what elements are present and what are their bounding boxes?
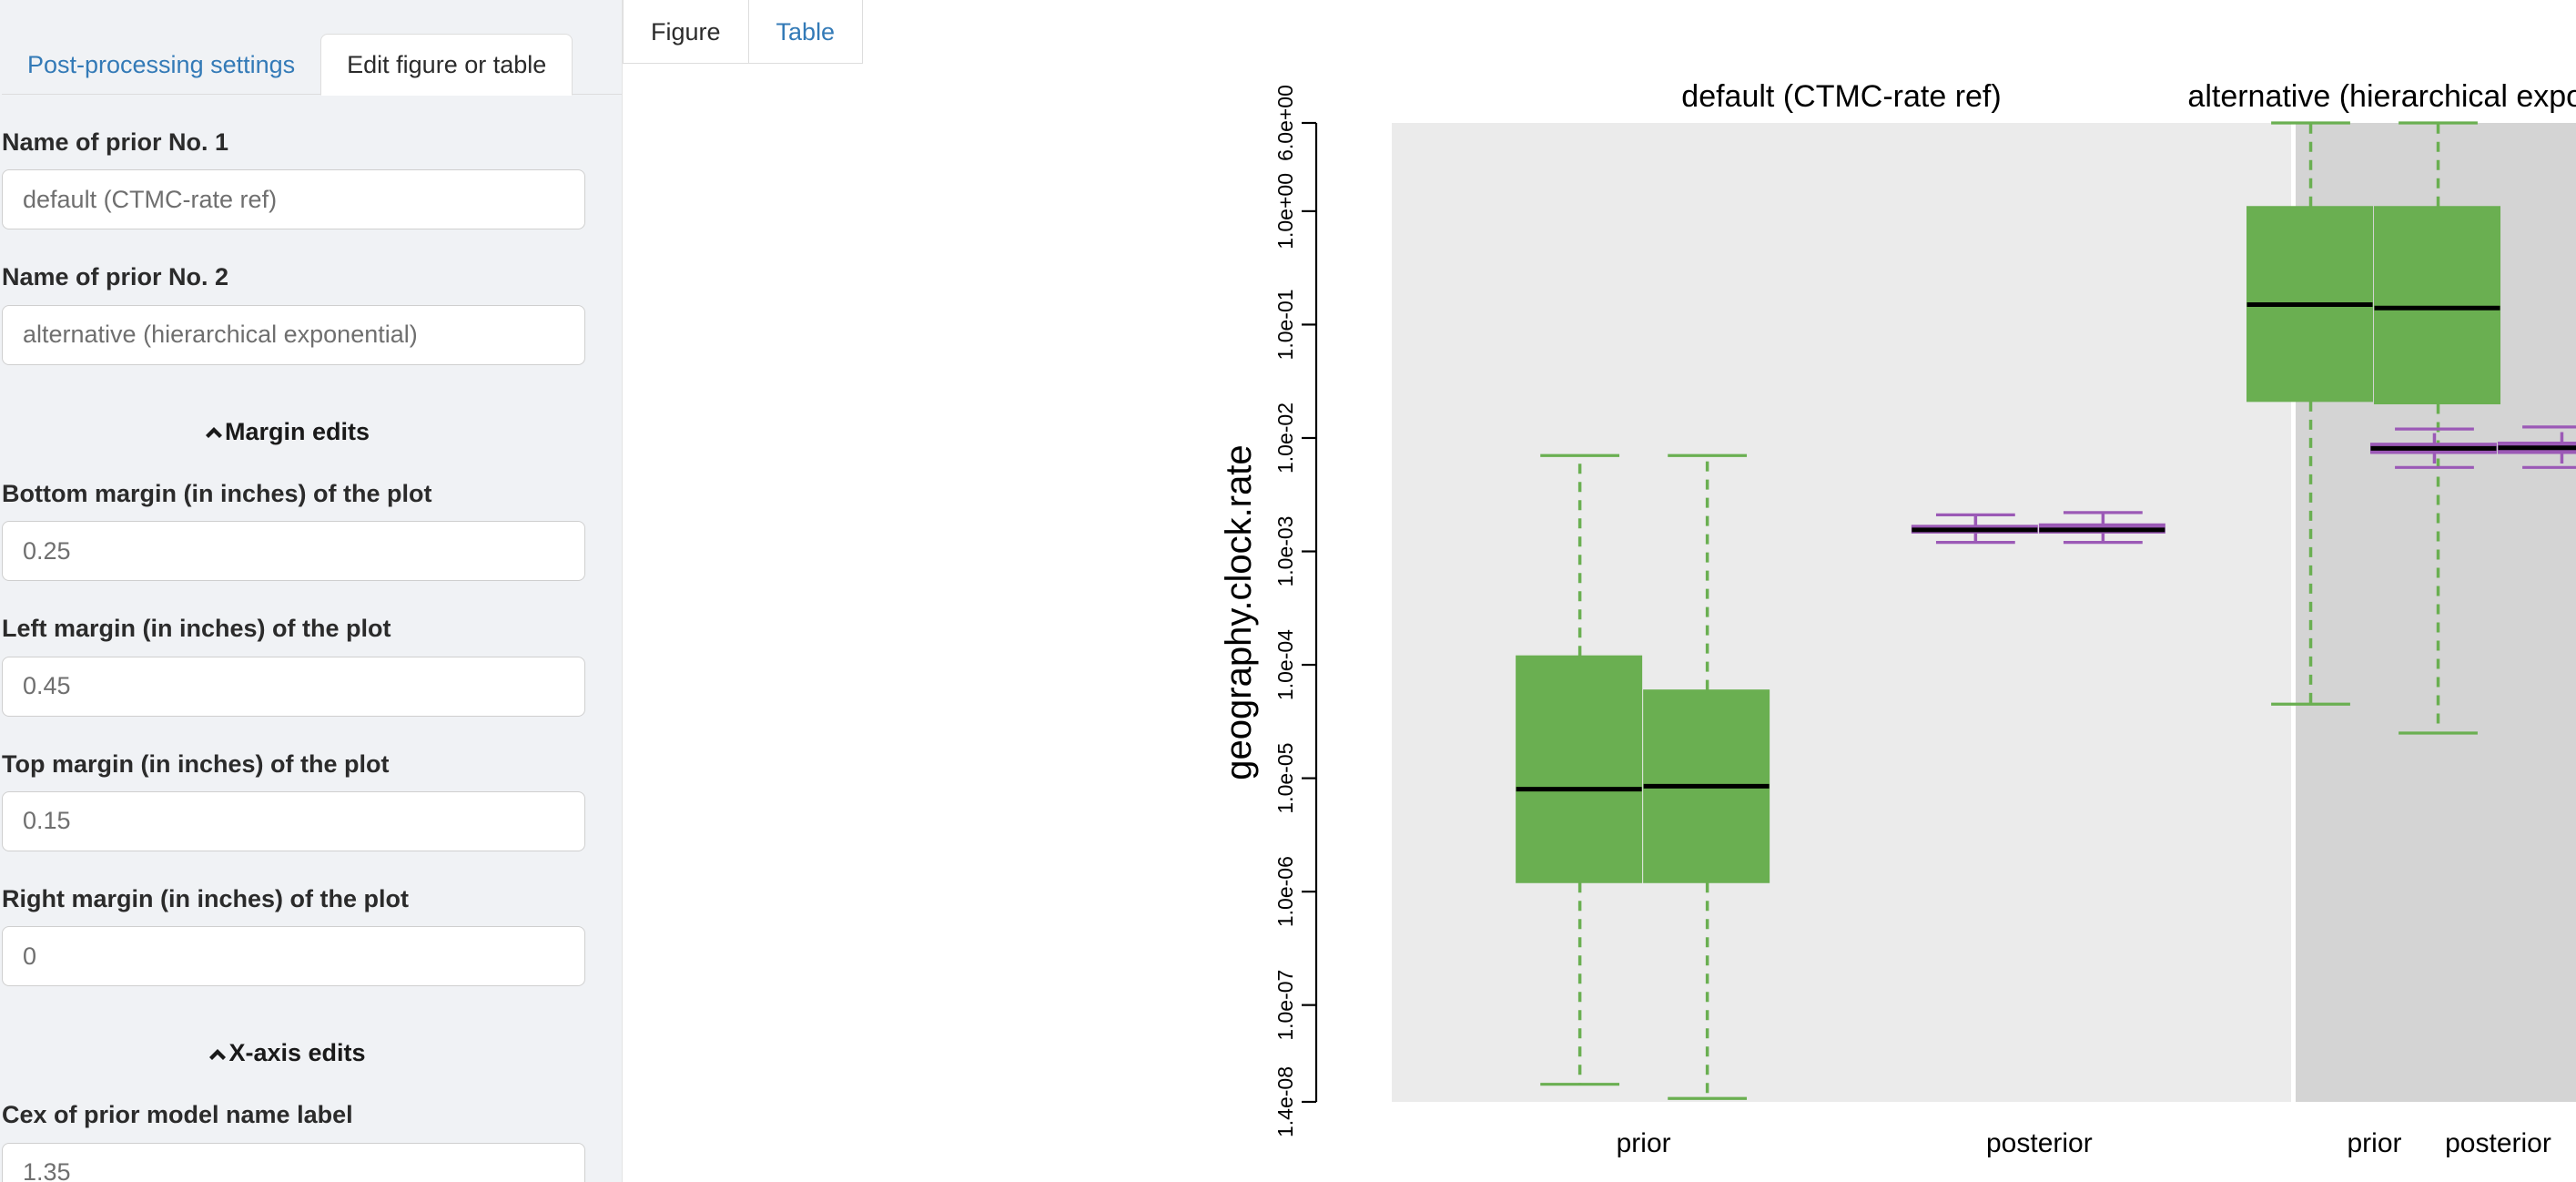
- label-cex-prior-model-name: Cex of prior model name label: [2, 1100, 583, 1129]
- input-bottom-margin[interactable]: 0.25: [2, 521, 585, 581]
- box-iqr: [1516, 656, 1642, 882]
- y-axis-tick-label: 1.0e-03: [1273, 516, 1297, 587]
- y-axis-title: geography.clock.rate: [1219, 444, 1259, 780]
- main-panel: Figure Table 1.4e-081.0e-071.0e-061.0e-0…: [622, 0, 2576, 1182]
- y-axis-tick-label: 1.0e-07: [1273, 970, 1297, 1041]
- y-axis-tick-label: 1.0e-01: [1273, 289, 1297, 360]
- settings-sidebar: Post-processing settings Edit figure or …: [0, 0, 622, 1182]
- label-bottom-margin: Bottom margin (in inches) of the plot: [2, 479, 583, 508]
- label-left-margin: Left margin (in inches) of the plot: [2, 614, 583, 643]
- y-axis-tick-label: 1.0e-04: [1273, 629, 1297, 700]
- sidebar-form: Name of prior No. 1 default (CTMC-rate r…: [0, 127, 622, 1182]
- app-root: Post-processing settings Edit figure or …: [0, 0, 2576, 1182]
- y-axis-tick-label: 6.0e+00: [1273, 85, 1297, 161]
- input-right-margin[interactable]: 0: [2, 926, 585, 986]
- x-axis-category-label: posterior: [2445, 1128, 2551, 1158]
- sidebar-tab-bar: Post-processing settings Edit figure or …: [0, 0, 622, 95]
- input-name-of-prior-2[interactable]: alternative (hierarchical exponential): [2, 305, 585, 365]
- label-top-margin: Top margin (in inches) of the plot: [2, 749, 583, 779]
- tab-post-processing-settings[interactable]: Post-processing settings: [2, 35, 320, 95]
- tab-table[interactable]: Table: [749, 0, 864, 64]
- x-axis-category-label: prior: [2348, 1128, 2402, 1158]
- panel-title: default (CTMC-rate ref): [1681, 79, 2001, 114]
- tab-figure[interactable]: Figure: [623, 0, 749, 64]
- label-name-of-prior-2: Name of prior No. 2: [2, 262, 583, 291]
- y-axis-tick-label: 1.0e+00: [1273, 173, 1297, 250]
- section-title-x-axis-edits: X-axis edits: [228, 1039, 365, 1067]
- y-axis-tick-label: 1.0e-02: [1273, 402, 1297, 474]
- input-name-of-prior-1[interactable]: default (CTMC-rate ref): [2, 169, 585, 229]
- box-iqr: [2375, 207, 2500, 404]
- label-name-of-prior-1: Name of prior No. 1: [2, 127, 583, 157]
- input-left-margin[interactable]: 0.45: [2, 657, 585, 717]
- y-axis-tick-label: 1.0e-05: [1273, 743, 1297, 814]
- x-axis-category-label: prior: [1617, 1128, 1671, 1158]
- y-axis-tick-label: 1.4e-08: [1273, 1066, 1297, 1137]
- label-right-margin: Right margin (in inches) of the plot: [2, 884, 583, 913]
- section-toggle-margin-edits[interactable]: Margin edits: [0, 418, 583, 446]
- tab-edit-figure-or-table[interactable]: Edit figure or table: [320, 34, 573, 96]
- panel-background: [1392, 123, 2291, 1102]
- boxplot-figure: 1.4e-081.0e-071.0e-061.0e-051.0e-041.0e-…: [623, 64, 2576, 1182]
- y-axis-tick-label: 1.0e-06: [1273, 856, 1297, 927]
- section-title-margin-edits: Margin edits: [225, 418, 370, 446]
- input-cex-prior-model-name[interactable]: 1.35: [2, 1143, 585, 1182]
- panel-title: alternative (hierarchical exponential): [2187, 79, 2576, 114]
- boxplot-svg: 1.4e-081.0e-071.0e-061.0e-051.0e-041.0e-…: [623, 64, 2576, 1182]
- figure-table-tab-bar: Figure Table: [623, 0, 863, 64]
- section-toggle-x-axis-edits[interactable]: X-axis edits: [0, 1039, 583, 1067]
- input-top-margin[interactable]: 0.15: [2, 791, 585, 851]
- x-axis-category-label: posterior: [1986, 1128, 2093, 1158]
